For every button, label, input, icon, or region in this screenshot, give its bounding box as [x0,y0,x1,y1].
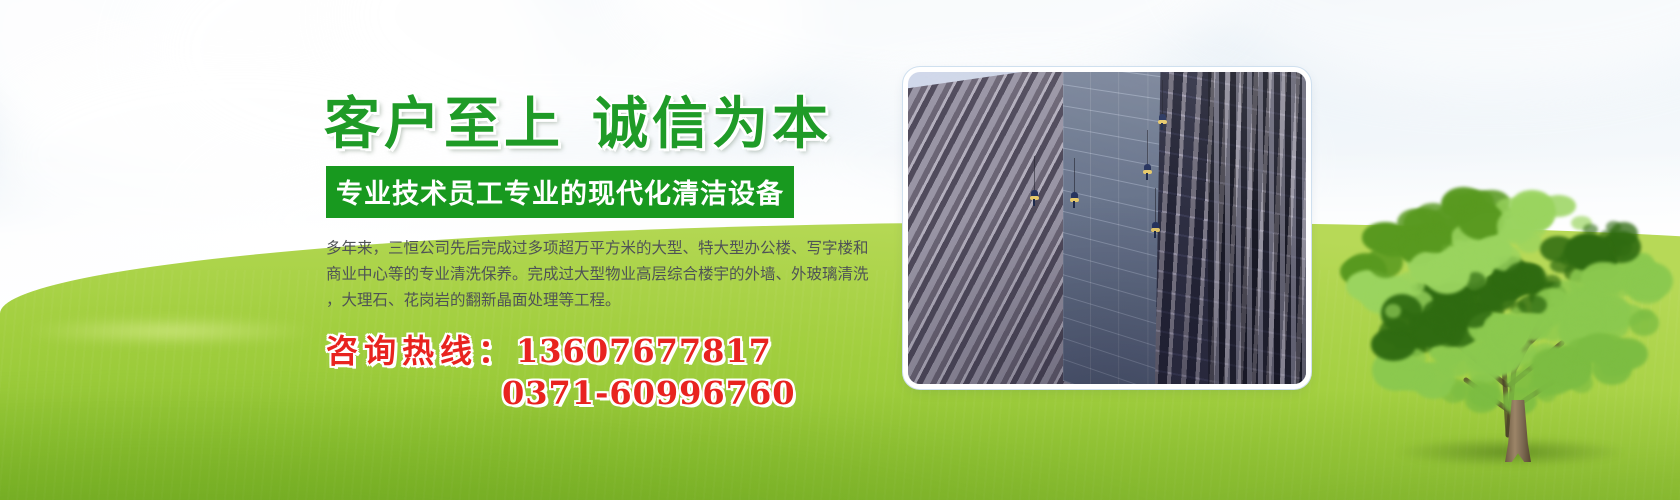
tree-foliage [1629,310,1659,336]
tree-foliage [1368,245,1403,277]
description-paragraph: 多年来，三恒公司先后完成过多项超万平方米的大型、特大型办公楼、写字楼和 商业中心… [326,236,882,314]
building-photo [908,72,1306,384]
building-photo-inner [908,72,1306,384]
tree-foliage [1579,333,1617,363]
tree-foliage [1419,377,1441,391]
tree-foliage [1570,373,1592,393]
tree-foliage [1581,262,1625,295]
tree-foliage [1583,224,1597,235]
tree-foliage [1385,304,1401,318]
hotline-mobile-number[interactable]: 13607677817 [516,332,772,370]
hotline-label: 咨询热线： [326,332,516,370]
headline-part-right: 诚信为本 [592,91,832,157]
promo-banner: 客户至上诚信为本 专业技术员工专业的现代化清洁设备 多年来，三恒公司先后完成过多… [0,0,1680,500]
tree-foliage [1518,295,1546,315]
page-title: 客户至上诚信为本 [324,96,900,152]
tree-graphic [1338,185,1676,467]
grass-highlight [20,318,320,344]
tree-foliage [1487,316,1529,353]
tree-foliage [1521,363,1539,375]
hotline-landline-number[interactable]: 0371-60996760 [502,374,795,412]
tree-foliage [1424,256,1469,294]
hotline-primary[interactable]: 咨询热线：13607677817 [326,330,900,372]
banner-text-block: 客户至上诚信为本 专业技术员工专业的现代化清洁设备 多年来，三恒公司先后完成过多… [320,96,900,414]
hotline-block: 咨询热线：13607677817 0371-60996760 [326,330,900,414]
photo-vignette [908,72,1306,384]
tree-foliage [1535,355,1571,380]
headline-part-left: 客户至上 [324,91,564,157]
hotline-secondary[interactable]: 0371-60996760 [502,372,900,414]
description-line: ，大理石、花岗岩的翻新晶面处理等工程。 [326,288,882,314]
tagline-ribbon: 专业技术员工专业的现代化清洁设备 [326,166,794,218]
tree-foliage [1473,381,1488,393]
tree-foliage [1528,378,1553,398]
description-line: 商业中心等的专业清洗保养。完成过大型物业高层综合楼宇的外墙、外玻璃清洗 [326,262,882,288]
tree-foliage [1418,224,1451,253]
tree-foliage [1463,344,1487,363]
tree-foliage [1451,382,1473,400]
tree-foliage [1541,195,1576,217]
tree-foliage [1566,305,1604,337]
description-line: 多年来，三恒公司先后完成过多项超万平方米的大型、特大型办公楼、写字楼和 [326,236,882,262]
